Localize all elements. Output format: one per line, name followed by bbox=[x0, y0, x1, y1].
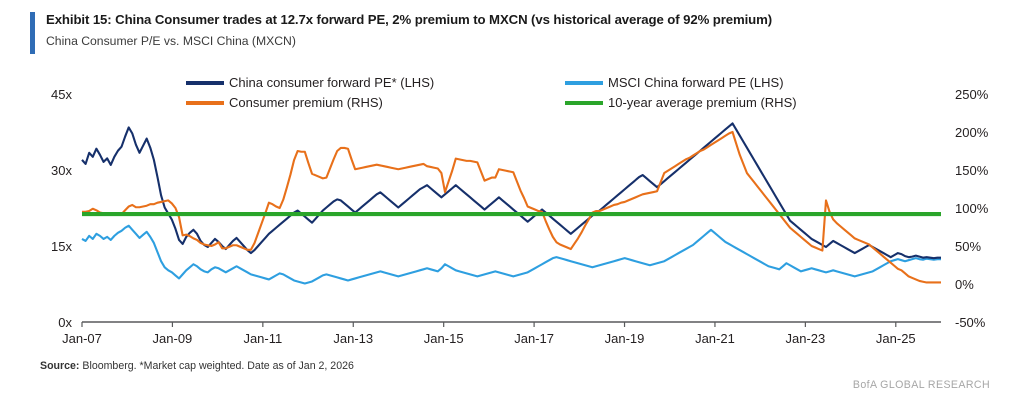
left-axis-tick-label: 30x bbox=[51, 163, 72, 178]
x-axis-tick-label: Jan-17 bbox=[514, 331, 554, 346]
right-axis-tick-label: 50% bbox=[955, 239, 981, 254]
source-label: Source: bbox=[40, 360, 79, 372]
chart-canvas: 0x15x30x45x-50%0%50%100%150%200%250%Jan-… bbox=[0, 0, 1024, 401]
x-axis-tick-label: Jan-07 bbox=[62, 331, 102, 346]
exhibit-chart: Exhibit 15: China Consumer trades at 12.… bbox=[0, 0, 1024, 401]
right-axis-tick-label: 150% bbox=[955, 163, 989, 178]
left-axis-tick-label: 15x bbox=[51, 239, 72, 254]
x-axis-tick-label: Jan-15 bbox=[424, 331, 464, 346]
right-axis-tick-label: 100% bbox=[955, 201, 989, 216]
right-axis-tick-label: 200% bbox=[955, 125, 989, 140]
x-axis-tick-label: Jan-11 bbox=[243, 331, 282, 346]
left-axis-tick-label: 45x bbox=[51, 87, 72, 102]
brand-label: BofA GLOBAL RESEARCH bbox=[853, 379, 990, 391]
x-axis-tick-label: Jan-09 bbox=[153, 331, 193, 346]
source-text: Bloomberg. *Market cap weighted. Date as… bbox=[79, 360, 353, 372]
right-axis-tick-label: -50% bbox=[955, 315, 986, 330]
series-line bbox=[82, 123, 941, 258]
series-line bbox=[82, 226, 941, 284]
source-note: Source: Bloomberg. *Market cap weighted.… bbox=[40, 360, 354, 372]
right-axis-tick-label: 0% bbox=[955, 277, 974, 292]
left-axis-tick-label: 0x bbox=[58, 315, 72, 330]
x-axis-tick-label: Jan-25 bbox=[876, 331, 916, 346]
x-axis-tick-label: Jan-21 bbox=[695, 331, 735, 346]
right-axis-tick-label: 250% bbox=[955, 87, 989, 102]
chart-plot-area: 0x15x30x45x-50%0%50%100%150%200%250%Jan-… bbox=[0, 0, 1024, 401]
x-axis-tick-label: Jan-23 bbox=[785, 331, 825, 346]
x-axis-tick-label: Jan-13 bbox=[333, 331, 373, 346]
x-axis-tick-label: Jan-19 bbox=[605, 331, 645, 346]
